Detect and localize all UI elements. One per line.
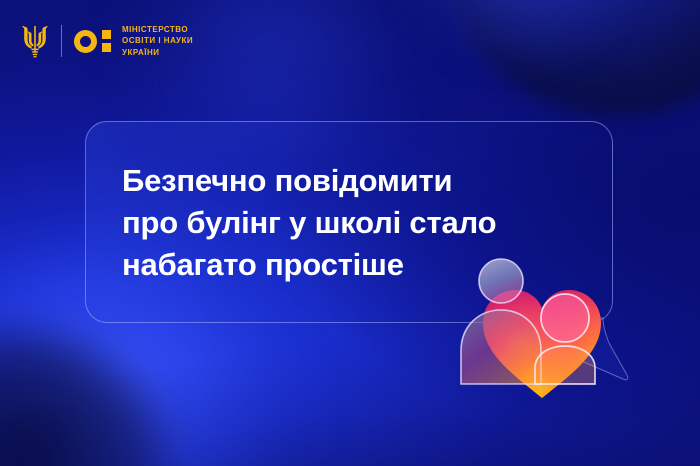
- heart-people-illustration: [455, 258, 630, 408]
- poster-canvas: МІНІСТЕРСТВО ОСВІТИ І НАУКИ УКРАЇНИ Безп…: [0, 0, 700, 466]
- logo-divider: [61, 25, 62, 57]
- mon-colon-square-bottom: [102, 43, 111, 52]
- trident-icon: [22, 24, 48, 58]
- mon-colon-icon: [102, 30, 111, 52]
- mon-colon-square-top: [102, 30, 111, 39]
- mon-ring-icon: [74, 30, 97, 53]
- ministry-logo: МІНІСТЕРСТВО ОСВІТИ І НАУКИ УКРАЇНИ: [22, 18, 193, 64]
- mon-mark-icon: [74, 30, 111, 53]
- ministry-name-text: МІНІСТЕРСТВО ОСВІТИ І НАУКИ УКРАЇНИ: [122, 24, 193, 58]
